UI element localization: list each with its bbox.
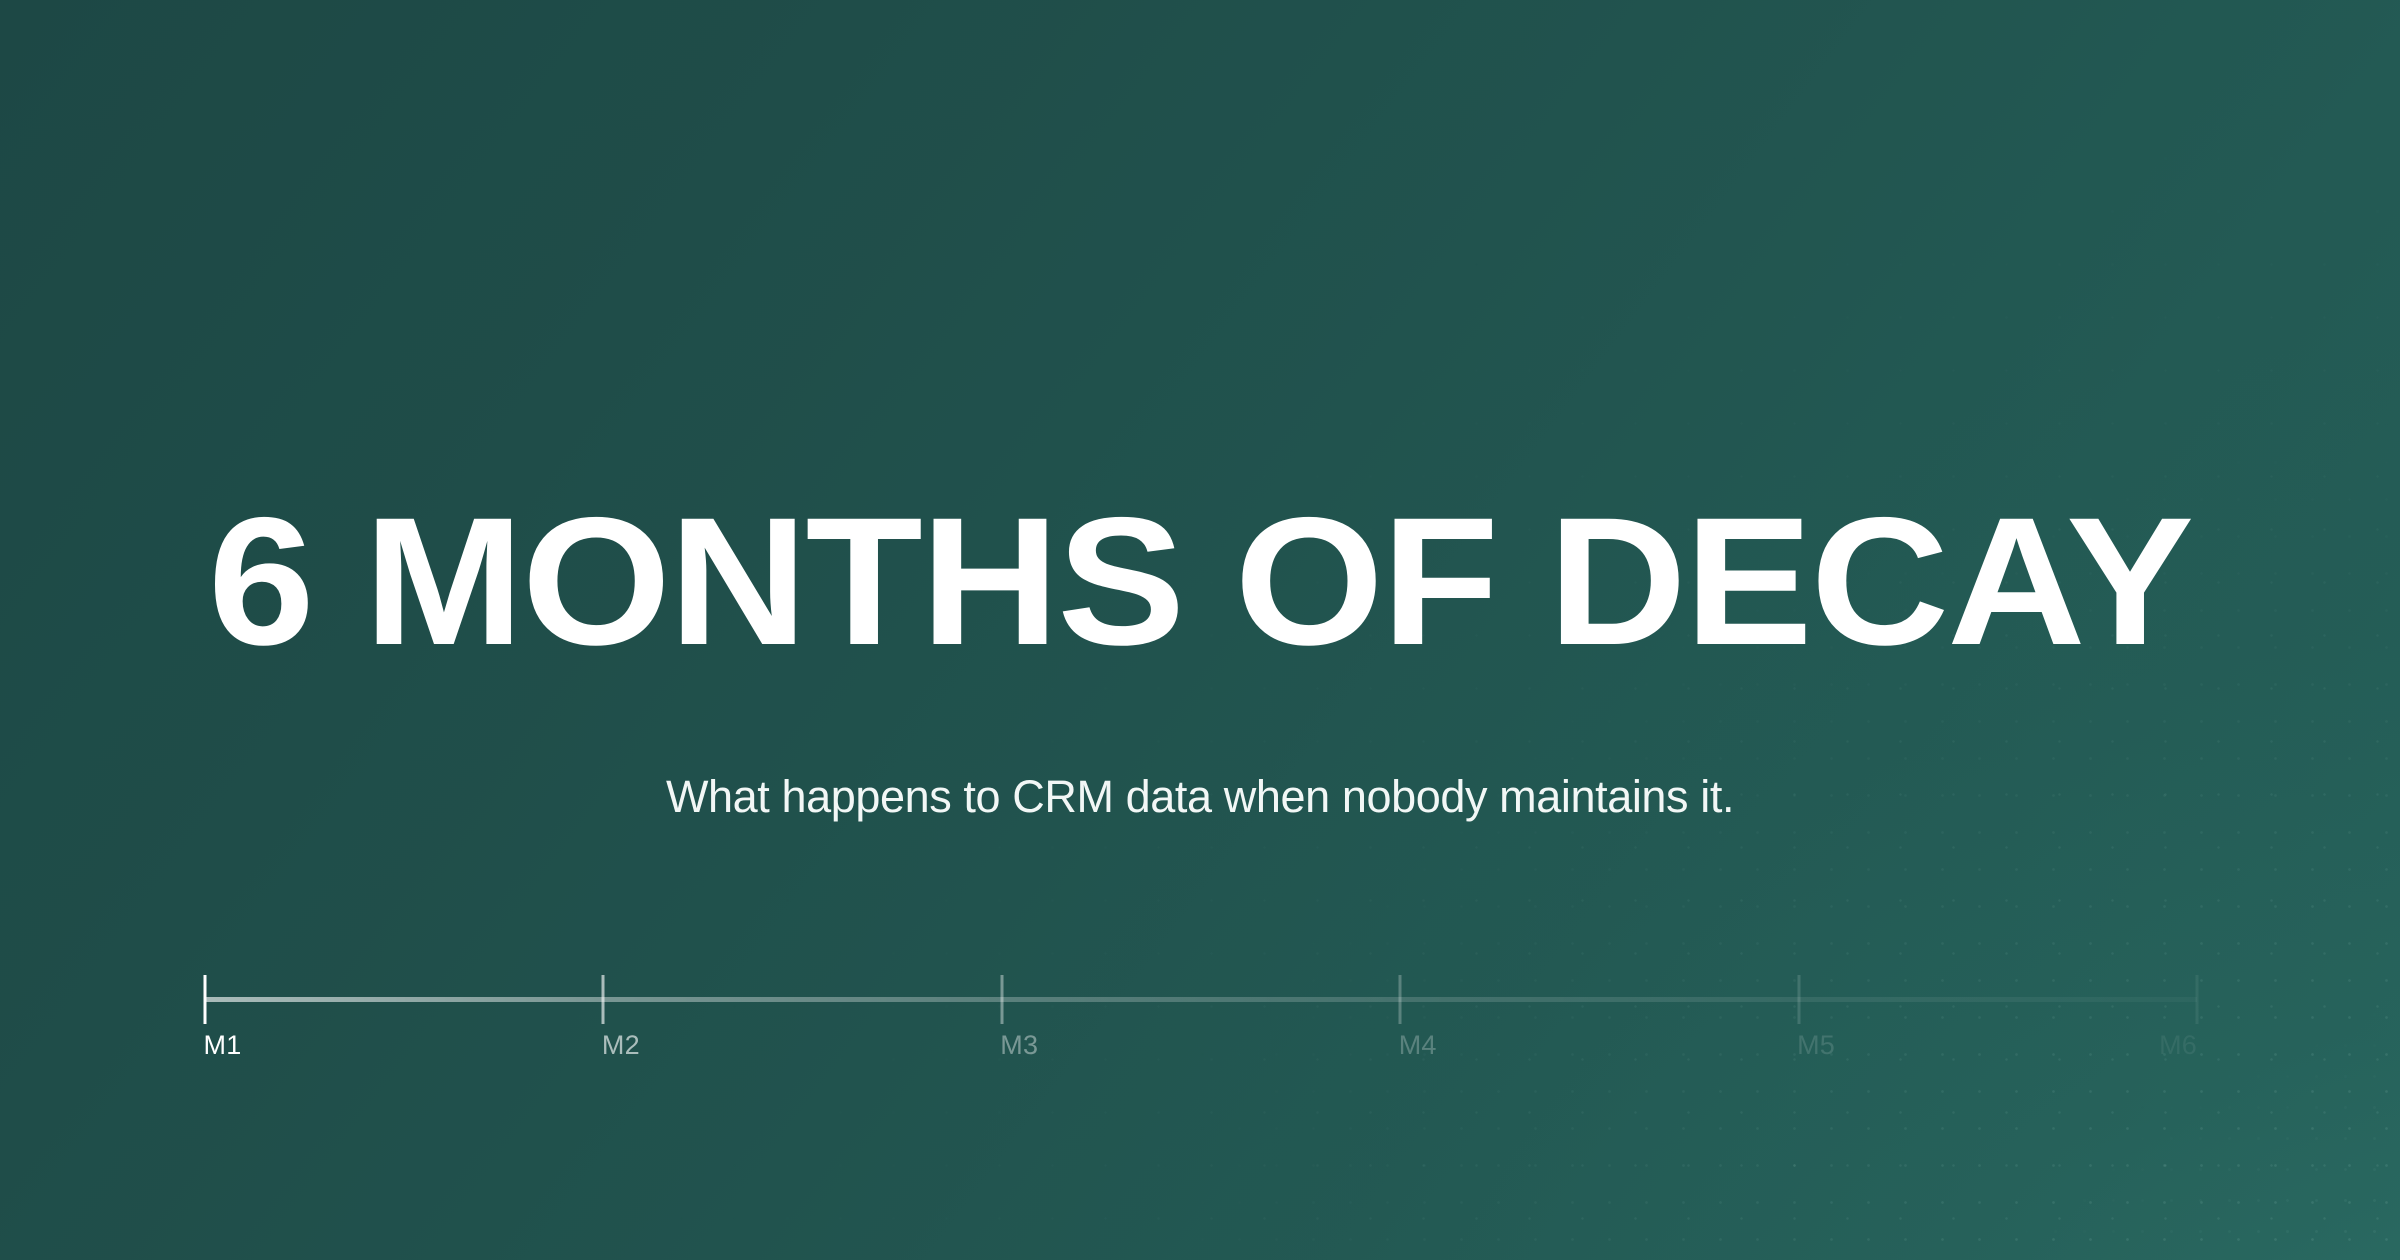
timeline-tick-m4 bbox=[1399, 975, 1402, 1024]
timeline-label-m4: M4 bbox=[1399, 1030, 1437, 1061]
timeline-label-m5: M5 bbox=[1797, 1030, 1835, 1061]
timeline-tick-m3 bbox=[1000, 975, 1003, 1024]
timeline-label-m2: M2 bbox=[602, 1030, 640, 1061]
timeline-tick-m2 bbox=[602, 975, 605, 1024]
timeline-tick-m1 bbox=[204, 975, 207, 1024]
page-title: 6 MONTHS OF DECAY bbox=[0, 490, 2400, 672]
title-slide: 6 MONTHS OF DECAY What happens to CRM da… bbox=[0, 0, 2400, 1260]
timeline-label-m3: M3 bbox=[1000, 1030, 1038, 1061]
page-subtitle: What happens to CRM data when nobody mai… bbox=[0, 769, 2400, 825]
timeline-label-m6: M6 bbox=[2159, 1030, 2197, 1061]
decay-timeline: M1M2M3M4M5M6 bbox=[205, 975, 2197, 1085]
timeline-tick-m6 bbox=[2196, 975, 2199, 1024]
timeline-label-m1: M1 bbox=[204, 1030, 242, 1061]
timeline-track bbox=[205, 997, 2197, 1002]
timeline-tick-m5 bbox=[1797, 975, 1800, 1024]
